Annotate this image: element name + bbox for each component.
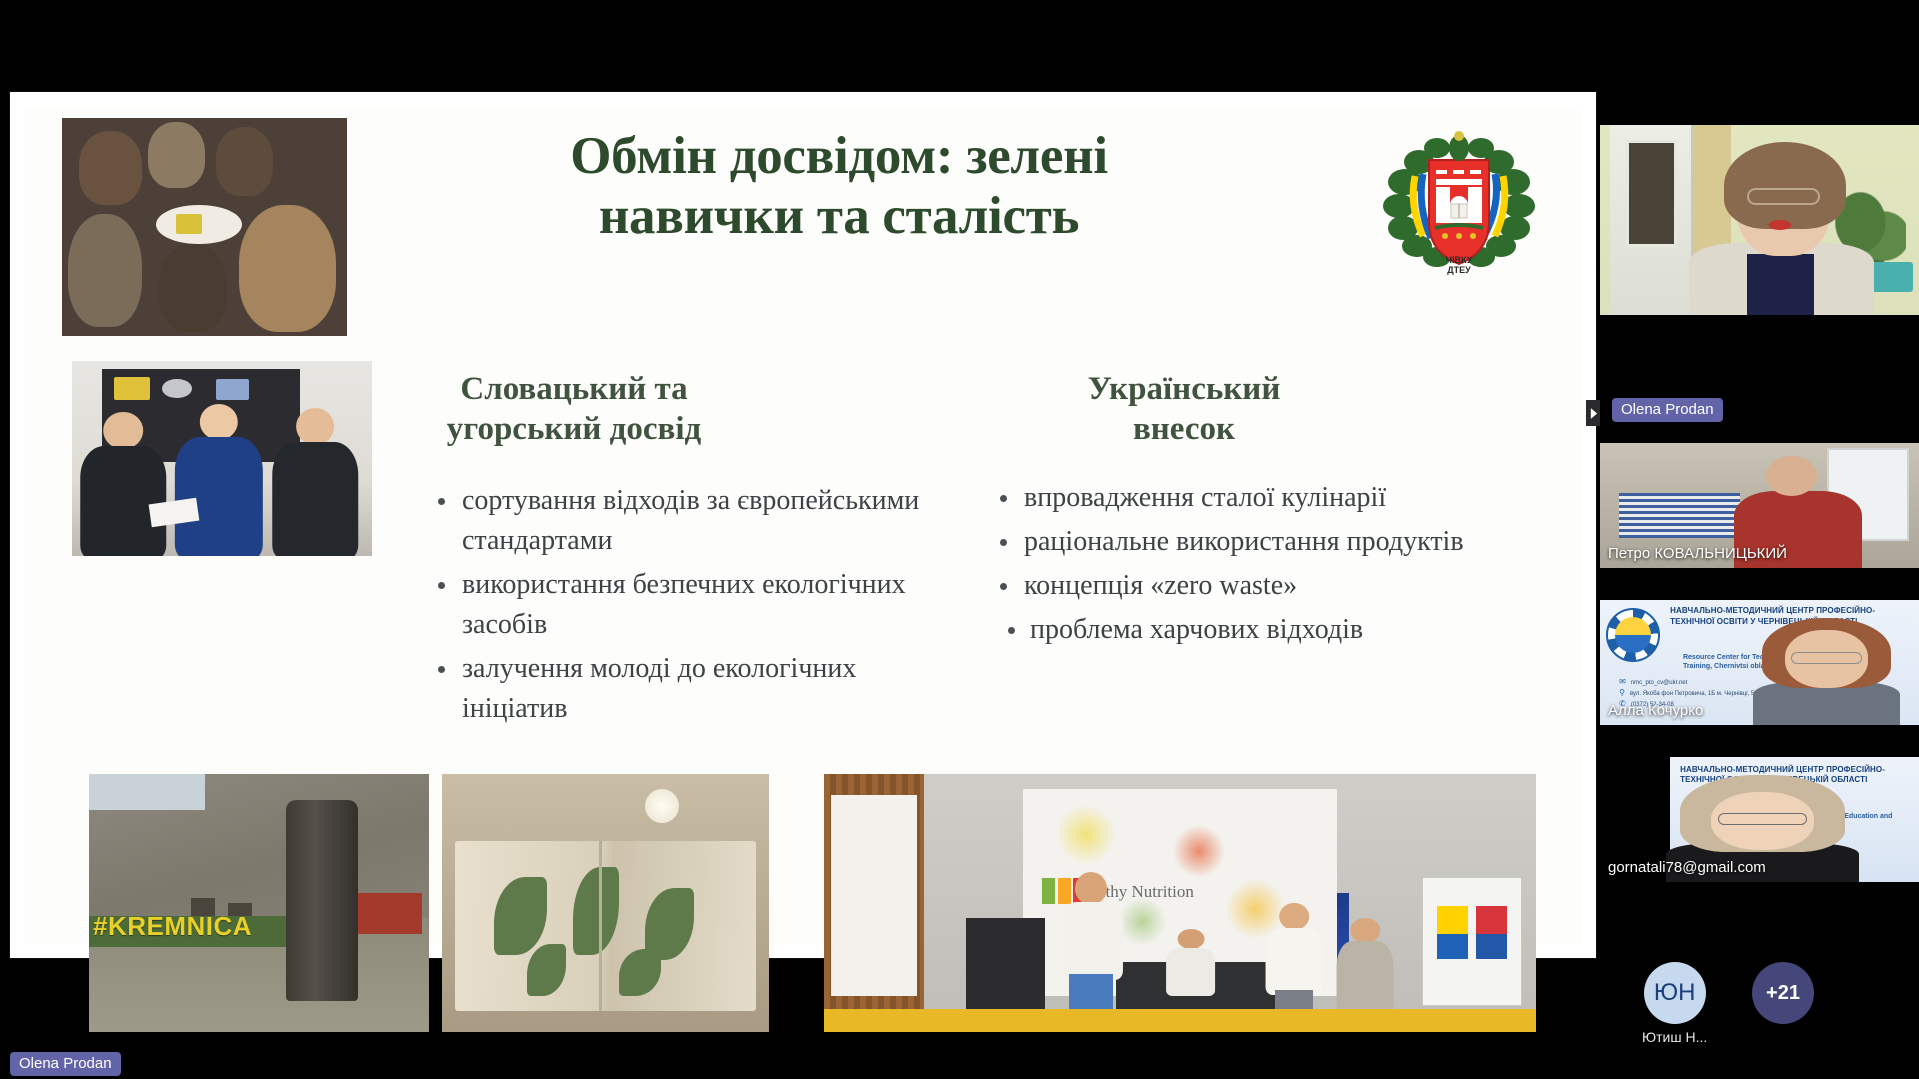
list-item: проблема харчових відходів — [996, 610, 1516, 650]
photo-kremnica: #KREMNICA — [89, 774, 429, 1032]
column-heading-right-line2: внесок — [1133, 411, 1235, 447]
collapse-rail-arrow-icon[interactable] — [1586, 400, 1600, 426]
list-item: раціональне використання продуктів — [996, 522, 1516, 562]
list-item: сортування відходів за європейськими ста… — [434, 481, 934, 561]
chnu-coat-of-arms-icon: ЧІВКУ ДТЕУ — [1379, 124, 1539, 279]
photo-students — [72, 361, 372, 556]
column-heading-left-line2: угорський досвід — [447, 411, 701, 447]
banner-email: nmc_pto_cv@ukr.net — [1631, 678, 1687, 689]
list-item: залучення молоді до екологічних ініціати… — [434, 649, 934, 729]
photo-conference: Healthy Nutrition — [824, 774, 1536, 1032]
photo-roundtable — [62, 118, 347, 336]
photo-kremnica-caption: #KREMNICA — [93, 911, 252, 942]
video-tile-gornatali[interactable]: НАВЧАЛЬНО-МЕТОДИЧНИЙ ЦЕНТР ПРОФЕСІЙНО-ТЕ… — [1600, 757, 1919, 882]
participant-name-alla: Алла Кочурко — [1608, 702, 1703, 719]
stage-top-bar — [0, 0, 1600, 92]
list-item: впровадження сталої кулінарії — [996, 478, 1516, 518]
avatar-label: Ютиш Н... — [1642, 1029, 1707, 1045]
video-tile-alla[interactable]: НАВЧАЛЬНО-МЕТОДИЧНИЙ ЦЕНТР ПРОФЕСІЙНО-ТЕ… — [1600, 600, 1919, 725]
column-heading-left-line1: Словацький та — [460, 371, 687, 407]
location-pin-icon: ⚲ — [1619, 689, 1625, 697]
shared-screen-slide[interactable]: Обмін досвідом: зелені навички та сталіс… — [10, 92, 1596, 958]
slide-canvas: Обмін досвідом: зелені навички та сталіс… — [24, 106, 1582, 944]
svg-text:ЧІВКУ: ЧІВКУ — [1446, 255, 1473, 265]
slide-title-line1: Обмін досвідом: зелені — [570, 127, 1108, 185]
video-tile-speaker[interactable] — [1600, 125, 1919, 315]
photo-herbarium — [442, 774, 769, 1032]
column-heading-right: Український внесок — [1034, 370, 1334, 449]
column-heading-right-line1: Український — [1088, 371, 1281, 407]
conference-stage: Обмін досвідом: зелені навички та сталіс… — [0, 0, 1919, 1079]
self-name-chip: Olena Prodan — [10, 1052, 121, 1076]
column-heading-left: Словацький та угорський досвід — [419, 370, 729, 449]
video-tile-petro[interactable]: Петро КОВАЛЬНИЦЬКИЙ — [1600, 443, 1919, 568]
nmc-logo-icon — [1606, 608, 1660, 662]
overflow-participants-row: ЮН Ютиш Н... +21 — [1600, 950, 1919, 1079]
list-item: використання безпечних екологічних засоб… — [434, 565, 934, 645]
slide-title-line2: навички та сталість — [599, 187, 1079, 245]
avatar-initials: ЮН — [1644, 962, 1706, 1024]
bullet-list-left: сортування відходів за європейськими ста… — [434, 481, 934, 733]
video-feed — [1600, 125, 1919, 315]
overflow-count-badge: +21 — [1752, 962, 1814, 1024]
slide-title: Обмін досвідом: зелені навички та сталіс… — [444, 126, 1234, 247]
bullet-list-right: впровадження сталої кулінарії раціональн… — [996, 478, 1516, 654]
participant-name-gornatali: gornatali78@gmail.com — [1608, 859, 1766, 876]
participant-rail: Olena Prodan Петро КОВАЛЬНИЦЬКИЙ НАВЧАЛЬ… — [1600, 0, 1919, 1079]
participant-name-petro: Петро КОВАЛЬНИЦЬКИЙ — [1608, 545, 1787, 562]
avatar-yutysh[interactable]: ЮН Ютиш Н... — [1642, 962, 1707, 1045]
avatar-more-count[interactable]: +21 — [1752, 962, 1814, 1024]
banner-address: вул. Якоба фон Петровича, 1Б м. Чернівці… — [1630, 689, 1768, 700]
mail-icon: ✉ — [1619, 678, 1626, 686]
participant-name-speaker: Olena Prodan — [1612, 398, 1723, 422]
svg-text:ДТЕУ: ДТЕУ — [1447, 265, 1471, 275]
list-item: концепція «zero waste» — [996, 566, 1516, 606]
